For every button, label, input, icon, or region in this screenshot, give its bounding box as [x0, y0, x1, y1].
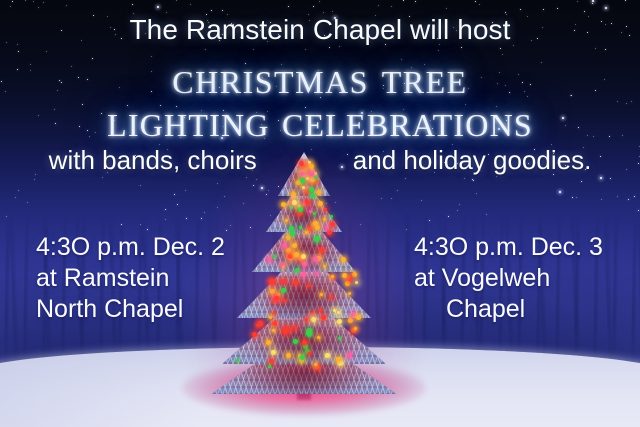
subline-left: with bands, choirs: [49, 145, 257, 175]
kicker-text: The Ramstein Chapel will host: [0, 14, 640, 46]
subline: with bands, choirsand holiday goodies.: [0, 145, 640, 176]
event-2-venue-line-2: Chapel: [414, 294, 603, 325]
event-2-venue-line-1: at Vogelweh: [414, 263, 603, 294]
tree-lights: [208, 152, 400, 400]
event-1-time: 4:3O p.m. Dec. 2: [36, 232, 225, 263]
event-2-time: 4:3O p.m. Dec. 3: [414, 232, 603, 263]
christmas-tree: [208, 152, 400, 400]
subline-right: and holiday goodies.: [353, 145, 592, 175]
event-details-ramstein: 4:3O p.m. Dec. 2 at Ramstein North Chape…: [36, 232, 225, 325]
event-1-venue-line-1: at Ramstein: [36, 263, 225, 294]
event-details-vogelweh: 4:3O p.m. Dec. 3 at Vogelweh Chapel: [414, 232, 603, 325]
headline-line-2: Lighting Celebrations: [0, 95, 640, 147]
christmas-tree-lighting-poster: The Ramstein Chapel will host Christmas …: [0, 0, 640, 427]
event-1-venue-line-2: North Chapel: [36, 294, 225, 325]
